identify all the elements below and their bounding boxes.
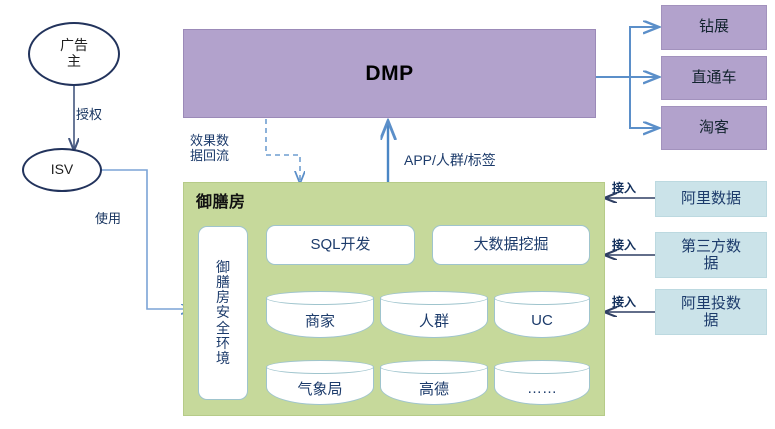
safe-env-char-0: 御: [216, 260, 230, 275]
wire-isv-to-platform: [101, 170, 193, 309]
node-channel-zhitongche[interactable]: 直通车: [661, 56, 767, 100]
edge-label-app-crowd-tag: APP/人群/标签: [404, 152, 496, 168]
isv-label: ISV: [51, 162, 74, 178]
node-datastore-uc[interactable]: UC: [494, 291, 590, 338]
node-datasource-thirdparty[interactable]: 第三方数 据: [655, 232, 767, 278]
datastore-label-4: 高德: [380, 372, 488, 405]
node-datastore-weather[interactable]: 气象局: [266, 360, 374, 405]
node-datasource-ali[interactable]: 阿里数据: [655, 181, 767, 217]
safe-env-char-4: 全: [216, 321, 230, 336]
datastore-label-5: ……: [494, 372, 590, 405]
tool-label-0: SQL开发: [310, 237, 370, 254]
wire-dmp-to-channel-0: [630, 27, 658, 77]
safe-env-char-6: 境: [216, 351, 230, 366]
datasource-label-1: 第三方数 据: [681, 238, 741, 273]
channel-label-1: 直通车: [691, 70, 736, 87]
datastore-label-3: 气象局: [266, 372, 374, 405]
tool-label-1: 大数据挖掘: [473, 237, 548, 254]
edge-label-use: 使用: [95, 212, 121, 227]
wire-dmp-to-platform-dashed: [266, 119, 300, 182]
wire-dmp-to-channel-2: [630, 77, 658, 128]
safe-env-char-1: 膳: [216, 275, 230, 290]
datasource-label-2: 阿里投数 据: [681, 295, 741, 330]
edge-label-access-0: 接入: [612, 182, 636, 196]
edge-label-access-1: 接入: [612, 239, 636, 253]
node-channel-zuanzhan[interactable]: 钻展: [661, 5, 767, 50]
node-tool-bigdata-mining[interactable]: 大数据挖掘: [432, 225, 590, 265]
panel-title: 御膳房: [196, 188, 246, 212]
edge-label-authorize: 授权: [76, 108, 102, 123]
node-tool-sql[interactable]: SQL开发: [266, 225, 415, 265]
advertiser-label-line2: 主: [67, 54, 81, 70]
node-datastore-more[interactable]: ……: [494, 360, 590, 405]
node-datastore-crowd[interactable]: 人群: [380, 291, 488, 338]
safe-env-char-5: 环: [216, 336, 230, 351]
node-safe-environment[interactable]: 御 膳 房 安 全 环 境: [198, 226, 248, 400]
edge-label-access-2: 接入: [612, 296, 636, 310]
datastore-label-1: 人群: [380, 303, 488, 338]
datastore-label-0: 商家: [266, 303, 374, 338]
node-channel-taoke[interactable]: 淘客: [661, 106, 767, 150]
edge-label-effect-return: 效果数 据回流: [190, 134, 268, 164]
advertiser-label-line1: 广告: [60, 38, 88, 54]
datastore-label-2: UC: [494, 303, 590, 338]
channel-label-2: 淘客: [699, 120, 729, 137]
safe-env-char-3: 安: [216, 305, 230, 320]
node-advertiser[interactable]: 广告 主: [28, 22, 120, 86]
diagram-canvas: 广告 主 ISV 授权 使用 DMP 效果数 据回流 APP/人群/标签 钻展 …: [0, 0, 775, 429]
node-datastore-gaode[interactable]: 高德: [380, 360, 488, 405]
node-datasource-alitou[interactable]: 阿里投数 据: [655, 289, 767, 335]
datasource-label-0: 阿里数据: [681, 190, 741, 207]
node-datastore-merchant[interactable]: 商家: [266, 291, 374, 338]
channel-label-0: 钻展: [699, 19, 729, 36]
node-dmp[interactable]: DMP: [183, 29, 596, 118]
dmp-label: DMP: [365, 62, 413, 86]
node-isv[interactable]: ISV: [22, 148, 102, 192]
safe-env-char-2: 房: [216, 290, 230, 305]
